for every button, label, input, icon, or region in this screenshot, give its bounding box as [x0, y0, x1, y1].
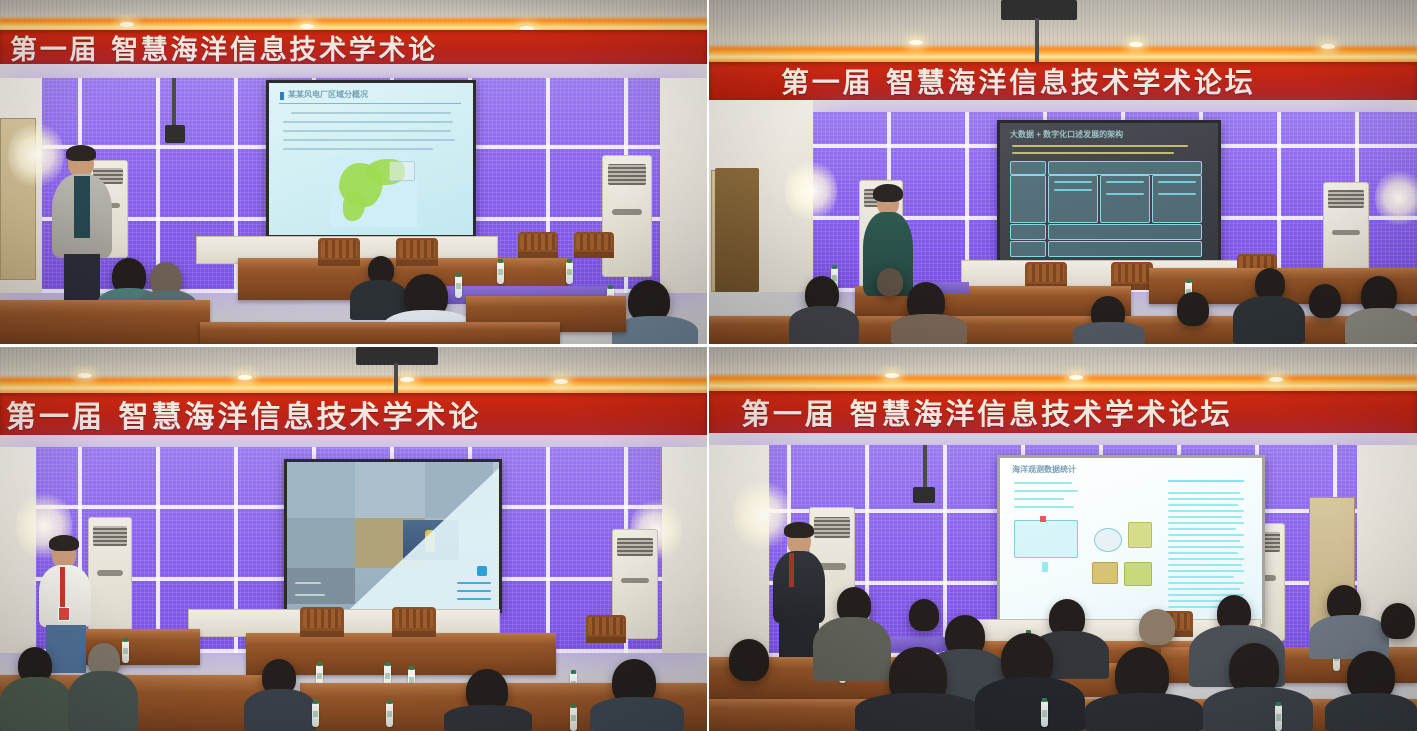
projector-arm — [172, 78, 176, 128]
event-banner: 第一届 智慧海洋信息技术学术论坛 — [709, 62, 1417, 100]
audience-member — [1233, 296, 1305, 344]
panel-top-right: 第一届 智慧海洋信息技术学术论坛 大数据 + 数字化口述发展的架构 — [709, 0, 1417, 344]
audience-member — [68, 671, 138, 731]
audience-member — [1085, 693, 1203, 731]
banner-text: 第一届 智慧海洋信息技术学术论 — [0, 30, 707, 64]
audience-desk — [0, 300, 210, 344]
audience-member — [789, 306, 859, 344]
downlight — [554, 379, 568, 384]
water-bottle — [1041, 701, 1048, 727]
downlight — [1321, 44, 1335, 49]
audience-member — [1309, 284, 1341, 318]
downlight — [400, 377, 414, 382]
chair — [518, 232, 558, 258]
audience-member — [444, 705, 532, 731]
wooden-cabinet — [715, 168, 759, 292]
projector-mount — [1001, 0, 1077, 20]
panel-top-left: 第一届 智慧海洋信息技术学术论 某某风电厂区域分概况 — [0, 0, 707, 344]
slide-green-map: 某某风电厂区域分概况 — [269, 83, 473, 235]
downlight — [1269, 377, 1283, 382]
audience-member — [590, 697, 684, 731]
panel-bottom-left: 第一届 智慧海洋信息技术学术论 — [0, 347, 707, 731]
audience-member — [244, 689, 316, 731]
audience-member — [909, 599, 939, 631]
audience-member — [891, 314, 967, 344]
event-banner: 第一届 智慧海洋信息技术学术论 — [0, 393, 707, 435]
audience-member — [0, 677, 72, 731]
water-bottle — [566, 262, 573, 284]
audience-member — [855, 693, 981, 731]
audience-member — [1325, 693, 1417, 731]
downlight — [238, 375, 252, 380]
audience-member — [1381, 603, 1415, 639]
banner-text: 第一届 智慧海洋信息技术学术论坛 — [709, 391, 1417, 433]
slide-title: 大数据 + 数字化口述发展的架构 — [1010, 129, 1123, 140]
audience-member — [1203, 687, 1313, 731]
downlight — [78, 373, 92, 378]
cove-light — [0, 375, 707, 393]
slide-title: 海洋观测数据统计 — [1012, 464, 1076, 475]
water-bottle — [455, 276, 462, 298]
panel-bottom-right: 第一届 智慧海洋信息技术学术论坛 海洋观测数据统计 — [709, 347, 1417, 731]
chair — [586, 615, 626, 643]
audience-member — [729, 639, 769, 681]
water-bottle — [570, 707, 577, 731]
banner-text: 第一届 智慧海洋信息技术学术论坛 — [709, 62, 1417, 100]
water-bottle — [1275, 705, 1282, 731]
event-banner: 第一届 智慧海洋信息技术学术论坛 — [709, 391, 1417, 433]
air-conditioner — [602, 155, 652, 277]
wall-sconce — [785, 158, 837, 224]
downlight — [909, 40, 923, 45]
audience-member — [1345, 308, 1417, 344]
water-bottle — [497, 262, 504, 284]
event-banner: 第一届 智慧海洋信息技术学术论 — [0, 30, 707, 64]
audience-member — [877, 268, 903, 296]
projector — [165, 125, 185, 143]
wall-sconce — [1375, 168, 1417, 228]
water-bottle — [122, 641, 129, 663]
projector-arm — [923, 445, 927, 491]
projection-screen: 某某风电厂区域分概况 — [266, 80, 476, 238]
audience-member — [1073, 322, 1145, 344]
audience-member — [975, 677, 1085, 731]
downlight — [885, 373, 899, 378]
cove-light — [709, 373, 1417, 391]
banner-text: 第一届 智慧海洋信息技术学术论 — [0, 393, 707, 435]
grid-divider-vertical — [707, 0, 709, 731]
audience-member — [813, 617, 891, 681]
cove-light — [709, 44, 1417, 62]
chair — [300, 607, 344, 637]
projection-screen — [284, 459, 502, 613]
chair — [318, 238, 360, 266]
water-bottle — [386, 703, 393, 727]
chair — [392, 607, 436, 637]
audience-desk — [200, 322, 560, 344]
grid-divider-horizontal — [0, 344, 1417, 347]
chair — [396, 238, 438, 266]
slide-photo-collage — [287, 462, 499, 610]
chair — [574, 232, 614, 258]
downlight — [120, 22, 134, 27]
water-bottle — [312, 703, 319, 727]
speaker-male-gray-blazer — [48, 148, 118, 300]
downlight — [1129, 42, 1143, 47]
wall-right — [660, 78, 707, 293]
downlight — [1069, 375, 1083, 380]
projector — [913, 487, 935, 503]
projection-screen: 大数据 + 数字化口述发展的架构 — [997, 120, 1221, 274]
logo-icon — [477, 566, 487, 576]
photo-grid: 第一届 智慧海洋信息技术学术论 某某风电厂区域分概况 — [0, 0, 1417, 731]
audience-member — [1139, 609, 1175, 645]
slide-title: 某某风电厂区域分概况 — [288, 89, 368, 100]
slide-architecture-diagram: 大数据 + 数字化口述发展的架构 — [1000, 123, 1218, 271]
audience-member — [1177, 292, 1209, 326]
